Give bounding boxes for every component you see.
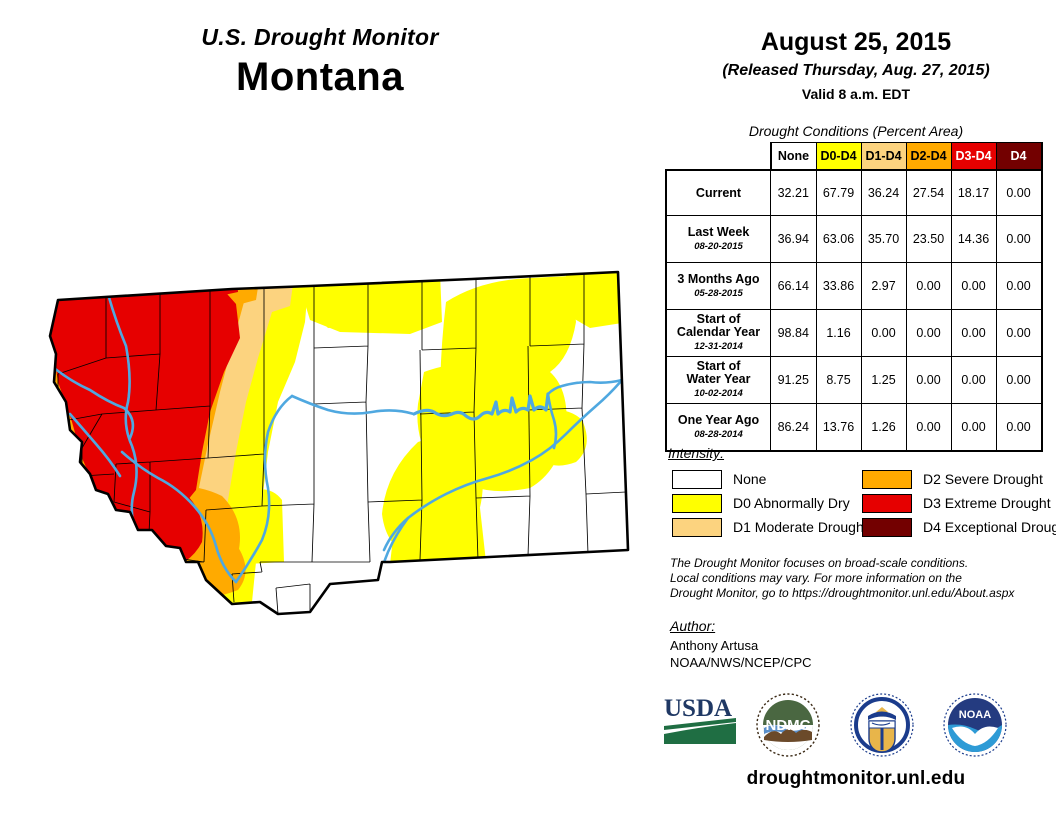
table-cell: 0.00 — [996, 357, 1042, 404]
row-label: One Year Ago08-28-2014 — [666, 404, 771, 452]
table-row: Current32.2167.7936.2427.5418.170.00 — [666, 170, 1042, 216]
row-label: Start ofWater Year10-02-2014 — [666, 357, 771, 404]
legend-label: D0 Abnormally Dry — [733, 495, 850, 511]
table-cell: 0.00 — [951, 263, 996, 310]
row-date: 08-20-2015 — [667, 240, 770, 253]
table-cell: 0.00 — [906, 404, 951, 452]
legend-item: D1 Moderate Drought — [672, 515, 868, 539]
logo-strip: USDA NDMC — [660, 692, 1052, 758]
table-row: One Year Ago08-28-201486.2413.761.260.00… — [666, 404, 1042, 452]
notes-line-3: Drought Monitor, go to https://droughtmo… — [670, 586, 1050, 601]
legend-label: None — [733, 471, 766, 487]
valid-time: Valid 8 a.m. EDT — [656, 86, 1056, 102]
row-label: Current — [666, 170, 771, 216]
legend-item: D2 Severe Drought — [862, 467, 1056, 491]
table-row: Start ofWater Year10-02-201491.258.751.2… — [666, 357, 1042, 404]
legend-item: None — [672, 467, 868, 491]
disclaimer-notes: The Drought Monitor focuses on broad-sca… — [670, 556, 1050, 601]
table-cell: 35.70 — [861, 216, 906, 263]
table-cell: 13.76 — [816, 404, 861, 452]
table-cell: 86.24 — [771, 404, 817, 452]
table-row: Last Week08-20-201536.9463.0635.7023.501… — [666, 216, 1042, 263]
table-row: Start ofCalendar Year12-31-201498.841.16… — [666, 310, 1042, 357]
table-header-d2-d4: D2-D4 — [906, 143, 951, 171]
logo-svg: USDA NDMC — [660, 692, 1052, 758]
legend-item: D0 Abnormally Dry — [672, 491, 868, 515]
table-cell: 27.54 — [906, 170, 951, 216]
legend-column-left: NoneD0 Abnormally DryD1 Moderate Drought — [672, 467, 868, 539]
table-cell: 1.25 — [861, 357, 906, 404]
row-label: Start ofCalendar Year12-31-2014 — [666, 310, 771, 357]
table-cell: 67.79 — [816, 170, 861, 216]
row-date: 05-28-2015 — [667, 287, 770, 300]
table-cell: 33.86 — [816, 263, 861, 310]
table-cell: 1.26 — [861, 404, 906, 452]
legend-column-right: D2 Severe DroughtD3 Extreme DroughtD4 Ex… — [862, 467, 1056, 539]
legend-label: D4 Exceptional Drought — [923, 519, 1056, 535]
table-cell: 0.00 — [996, 216, 1042, 263]
legend-swatch — [862, 494, 912, 513]
table-header-d3-d4: D3-D4 — [951, 143, 996, 171]
table-header-row: NoneD0-D4D1-D4D2-D4D3-D4D4 — [666, 143, 1042, 171]
table-cell: 0.00 — [951, 310, 996, 357]
table-header-d1-d4: D1-D4 — [861, 143, 906, 171]
table-cell: 0.00 — [906, 357, 951, 404]
table-header-none: None — [771, 143, 817, 171]
legend-title: Intensity: — [668, 445, 724, 461]
svg-text:NOAA: NOAA — [959, 709, 991, 721]
table-cell: 18.17 — [951, 170, 996, 216]
table-header-d0-d4: D0-D4 — [816, 143, 861, 171]
table-cell: 2.97 — [861, 263, 906, 310]
header-empty-corner — [666, 143, 771, 171]
author-affiliation: NOAA/NWS/NCEP/CPC — [670, 654, 812, 671]
row-label: 3 Months Ago05-28-2015 — [666, 263, 771, 310]
release-header: August 25, 2015 (Released Thursday, Aug.… — [656, 28, 1056, 102]
site-url: droughtmonitor.unl.edu — [656, 768, 1056, 790]
table-cell: 8.75 — [816, 357, 861, 404]
release-date: August 25, 2015 — [656, 28, 1056, 57]
table-cell: 63.06 — [816, 216, 861, 263]
montana-map-svg — [10, 262, 650, 642]
table-cell: 0.00 — [996, 263, 1042, 310]
svg-text:NDMC: NDMC — [766, 717, 811, 734]
legend-swatch — [672, 518, 722, 537]
table-cell: 0.00 — [861, 310, 906, 357]
author-title: Author: — [670, 618, 715, 634]
legend-item: D3 Extreme Drought — [862, 491, 1056, 515]
program-title: U.S. Drought Monitor — [0, 24, 640, 51]
released-line: (Released Thursday, Aug. 27, 2015) — [656, 62, 1056, 80]
state-title: Montana — [0, 55, 640, 100]
table-cell: 36.94 — [771, 216, 817, 263]
drought-conditions-table: NoneD0-D4D1-D4D2-D4D3-D4D4 Current32.216… — [665, 142, 1043, 452]
table-body: Current32.2167.7936.2427.5418.170.00Last… — [666, 170, 1042, 451]
legend-label: D3 Extreme Drought — [923, 495, 1051, 511]
table-cell: 66.14 — [771, 263, 817, 310]
table-cell: 91.25 — [771, 357, 817, 404]
table-cell: 23.50 — [906, 216, 951, 263]
legend-label: D2 Severe Drought — [923, 471, 1043, 487]
table-cell: 0.00 — [996, 404, 1042, 452]
legend-swatch — [672, 494, 722, 513]
usdc-seal-logo — [851, 694, 913, 756]
row-date: 12-31-2014 — [667, 340, 770, 353]
notes-line-1: The Drought Monitor focuses on broad-sca… — [670, 556, 1050, 571]
table-caption: Drought Conditions (Percent Area) — [656, 123, 1056, 139]
legend-swatch — [862, 518, 912, 537]
table-cell: 32.21 — [771, 170, 817, 216]
table-cell: 0.00 — [906, 263, 951, 310]
usda-logo: USDA — [664, 695, 736, 744]
table-cell: 0.00 — [951, 404, 996, 452]
table-cell: 14.36 — [951, 216, 996, 263]
drought-map — [10, 262, 650, 642]
legend-item: D4 Exceptional Drought — [862, 515, 1056, 539]
noaa-logo: NOAA — [944, 694, 1006, 756]
table-cell: 0.00 — [906, 310, 951, 357]
ndmc-logo: NDMC — [757, 694, 819, 756]
table-cell: 0.00 — [996, 170, 1042, 216]
row-label: Last Week08-20-2015 — [666, 216, 771, 263]
legend-swatch — [862, 470, 912, 489]
table-row: 3 Months Ago05-28-201566.1433.862.970.00… — [666, 263, 1042, 310]
table-cell: 0.00 — [996, 310, 1042, 357]
table-cell: 36.24 — [861, 170, 906, 216]
map-title-block: U.S. Drought Monitor Montana — [0, 24, 640, 100]
author-block: Anthony Artusa NOAA/NWS/NCEP/CPC — [670, 637, 812, 671]
table-header-d4: D4 — [996, 143, 1042, 171]
table-cell: 0.00 — [951, 357, 996, 404]
row-date: 10-02-2014 — [667, 387, 770, 400]
legend-swatch — [672, 470, 722, 489]
svg-text:USDA: USDA — [664, 695, 732, 722]
row-date: 08-28-2014 — [667, 428, 770, 441]
table-cell: 1.16 — [816, 310, 861, 357]
author-name: Anthony Artusa — [670, 637, 812, 654]
legend-label: D1 Moderate Drought — [733, 519, 868, 535]
notes-line-2: Local conditions may vary. For more info… — [670, 571, 1050, 586]
table-cell: 98.84 — [771, 310, 817, 357]
